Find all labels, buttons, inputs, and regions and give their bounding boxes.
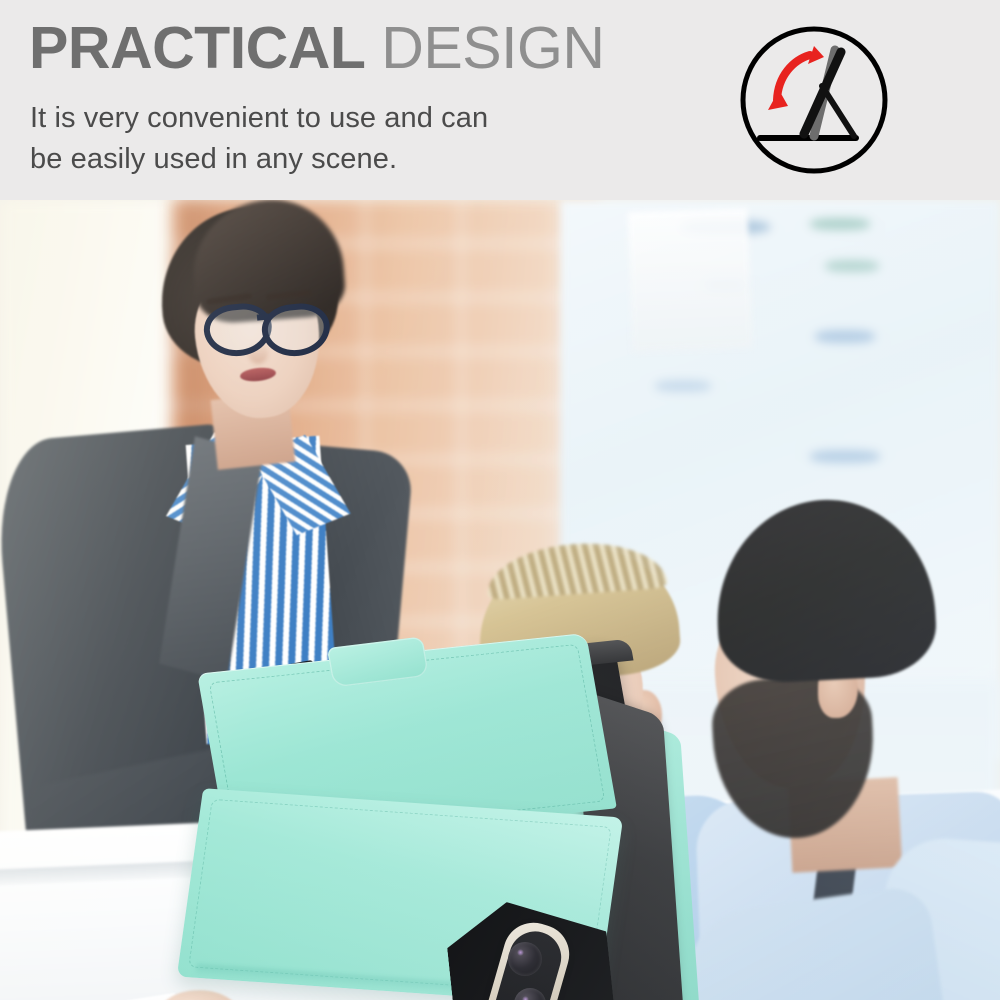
page-subtitle-line-2: be easily used in any scene.	[30, 139, 488, 180]
eyeglasses-bridge	[257, 313, 270, 320]
pinned-paper	[628, 208, 753, 352]
adjustable-kickstand-icon	[738, 24, 890, 176]
product-feature-banner: PRACTICAL DESIGN It is very convenient t…	[0, 0, 1000, 1000]
page-subtitle: It is very convenient to use and can be …	[30, 98, 488, 180]
page-title-light: DESIGN	[381, 15, 604, 81]
lifestyle-photo	[0, 200, 1000, 1000]
header-bar: PRACTICAL DESIGN It is very convenient t…	[0, 0, 1000, 200]
lens-flare	[517, 949, 524, 956]
camera-lens-main	[508, 942, 542, 976]
lens-flare	[522, 996, 529, 1000]
page-subtitle-line-1: It is very convenient to use and can	[30, 98, 488, 139]
page-title: PRACTICAL DESIGN	[29, 16, 605, 80]
page-title-strong: PRACTICAL	[29, 15, 365, 81]
